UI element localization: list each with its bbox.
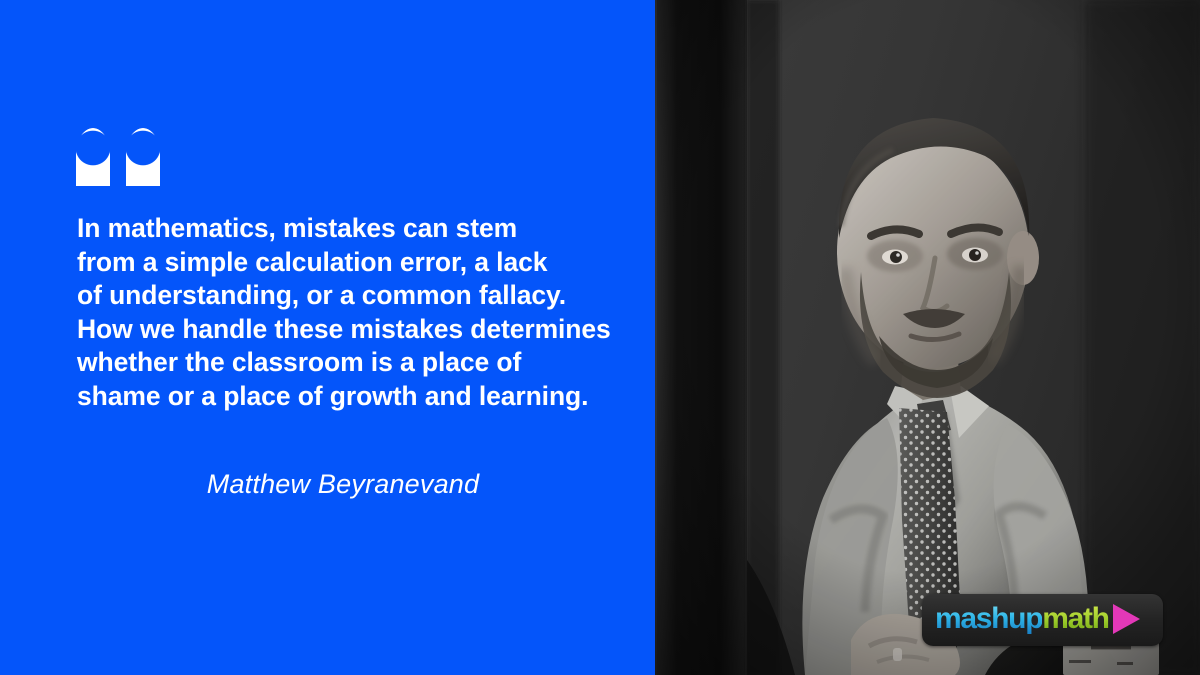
quotation-mark-glyph-left bbox=[76, 128, 110, 186]
quotation-mark-icon bbox=[76, 128, 166, 190]
quote-panel: In mathematics, mistakes can stem from a… bbox=[0, 0, 655, 675]
portrait-illustration bbox=[655, 0, 1200, 675]
quote-text: In mathematics, mistakes can stem from a… bbox=[77, 212, 652, 413]
portrait-photo bbox=[655, 0, 1200, 675]
logo-word-mashup: mashup bbox=[935, 604, 1042, 634]
quote-attribution: Matthew Beyranevand bbox=[77, 468, 609, 500]
mashup-math-logo[interactable]: mashup math bbox=[922, 594, 1163, 646]
quotation-mark-glyph-right bbox=[126, 128, 160, 186]
play-triangle-icon bbox=[1113, 604, 1140, 634]
quote-card: In mathematics, mistakes can stem from a… bbox=[0, 0, 1200, 675]
logo-word-math: math bbox=[1042, 604, 1108, 634]
